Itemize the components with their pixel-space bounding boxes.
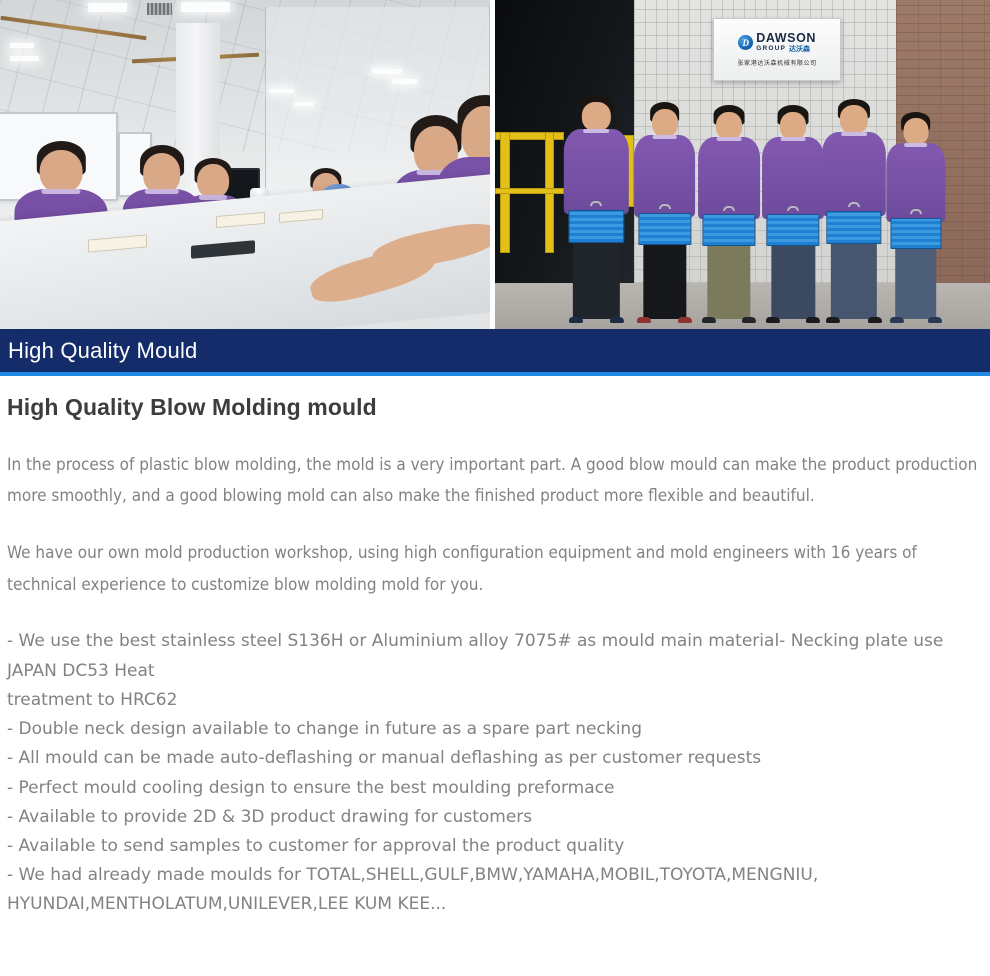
head [143,153,181,193]
list-item: - Available to provide 2D & 3D product d… [7,803,982,832]
head [197,164,229,198]
list-item: - Double neck design available to change… [7,715,982,744]
technician [762,105,824,319]
product-description: High Quality Blow Molding mould In the p… [0,376,990,920]
ceiling-light [294,102,314,106]
tool-case-handle [590,201,602,206]
feature-list: - We use the best stainless steel S136H … [7,627,982,919]
ceiling-light [88,3,127,11]
ceiling-light [270,89,295,93]
sign-group-label: GROUP [756,46,786,53]
technician [886,112,945,319]
sign-logo-row: D DAWSON GROUP 达沃森 [738,32,816,55]
photo-banner: D DAWSON GROUP 达沃森 张家港达沃森机械有限公司 [0,0,990,329]
head [903,118,928,145]
shoe [742,317,756,323]
shoe [806,317,820,323]
head [582,102,610,131]
shoe [569,317,583,323]
head [780,112,806,140]
tool-case-handle [659,204,671,209]
shoe [702,317,716,323]
blue-tool-case [702,214,755,246]
sign-brand-block: DAWSON GROUP 达沃森 [756,32,816,55]
ceiling-light [372,69,401,74]
blue-tool-case [767,214,820,246]
blue-tool-case [826,211,881,244]
head [840,105,868,134]
shoe [826,317,840,323]
tool-case-handle [787,206,799,211]
shoe [678,317,692,323]
blue-tool-case [638,213,691,246]
sign-company-cn: 张家港达沃森机械有限公司 [738,58,817,67]
collar [144,189,178,194]
shoe [928,317,942,323]
shoe [868,317,882,323]
collar [841,132,867,136]
ceiling-light [10,43,35,48]
head [40,150,83,194]
intro-paragraph: In the process of plastic blow molding, … [7,450,979,513]
section-title: High Quality Mould [8,340,197,362]
ceiling-light [10,56,39,61]
shoe [766,317,780,323]
collar [904,143,928,147]
tool-case-handle [723,206,735,211]
technician [564,95,628,319]
sign-brand-cn: 达沃森 [789,44,810,54]
technician [822,99,886,319]
workshop-paragraph: We have our own mold production workshop… [7,538,979,601]
collar [717,137,742,141]
safety-railing [495,188,564,195]
article-heading: High Quality Blow Molding mould [7,394,982,422]
meeting-room-photo [0,0,490,329]
collar [42,189,81,194]
tool-case-handle [910,209,922,214]
list-item: treatment to HRC62 [7,686,982,715]
technician [634,102,696,319]
collar [652,135,677,139]
shoe [890,317,904,323]
sign-brand-name: DAWSON [756,32,816,45]
section-title-bar: High Quality Mould [0,329,990,376]
tool-case-handle [848,202,860,207]
collar [584,129,610,133]
list-item: - We had already made moulds for TOTAL,S… [7,861,982,919]
head [652,109,678,137]
list-item: - All mould can be made auto-deflashing … [7,744,982,773]
factory-entrance-scene: D DAWSON GROUP 达沃森 张家港达沃森机械有限公司 [495,0,990,329]
shoe [637,317,651,323]
shoe [610,317,624,323]
blue-tool-case [569,210,624,244]
head [716,112,742,140]
list-item: - We use the best stainless steel S136H … [7,627,982,685]
ceiling-light [392,79,417,84]
dawson-logo-icon: D [738,35,753,50]
ceiling-vent [147,3,172,15]
meeting-room-scene [0,0,490,329]
technicians-group-photo: D DAWSON GROUP 达沃森 张家港达沃森机械有限公司 [495,0,990,329]
list-item: - Available to send samples to customer … [7,832,982,861]
company-sign: D DAWSON GROUP 达沃森 张家港达沃森机械有限公司 [713,18,842,81]
blue-tool-case [890,218,941,249]
collar [781,137,806,141]
list-item: - Perfect mould cooling design to ensure… [7,774,982,803]
ceiling-light [181,2,230,12]
sign-group-row: GROUP 达沃森 [756,44,816,54]
technician [698,105,760,319]
